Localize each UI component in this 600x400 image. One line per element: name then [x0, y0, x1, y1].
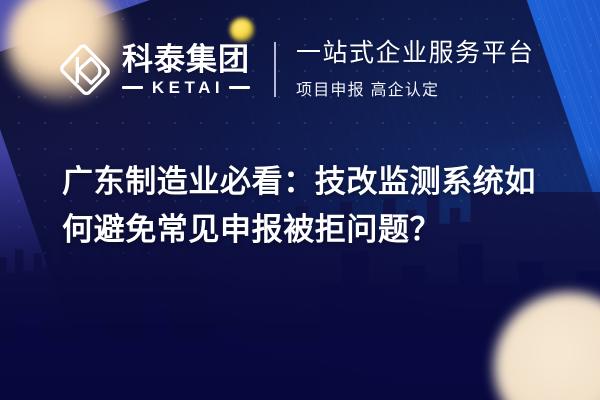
- brand-logo[interactable]: 科泰集团 KETAI: [58, 42, 250, 98]
- wordmark-rule-left: [122, 86, 143, 89]
- brand-wordmark: 科泰集团 KETAI: [122, 44, 250, 96]
- brand-name-en: KETAI: [148, 79, 224, 96]
- tagline-secondary: 项目申报 高企认定: [296, 76, 535, 100]
- gold-dot-icon: [230, 18, 254, 42]
- ketai-diamond-k-logo-icon: [58, 42, 112, 98]
- page-title-line-2: 何避免常见申报被拒问题？: [62, 206, 567, 254]
- brand-name-en-row: KETAI: [122, 79, 250, 96]
- banner-header: 科泰集团 KETAI 一站式企业服务平台 项目申报 高企认定: [58, 40, 535, 100]
- page-title: 广东制造业必看：技改监测系统如 何避免常见申报被拒问题？: [62, 158, 567, 254]
- brand-name-cn: 科泰集团: [122, 44, 250, 75]
- page-title-line-1: 广东制造业必看：技改监测系统如: [62, 158, 567, 206]
- tagline-primary: 一站式企业服务平台: [296, 40, 535, 68]
- header-divider: [274, 42, 276, 97]
- promo-banner: 科泰集团 KETAI 一站式企业服务平台 项目申报 高企认定 广东制造业必看：技…: [0, 0, 600, 400]
- tagline-block: 一站式企业服务平台 项目申报 高企认定: [296, 40, 535, 100]
- wordmark-rule-right: [229, 86, 250, 89]
